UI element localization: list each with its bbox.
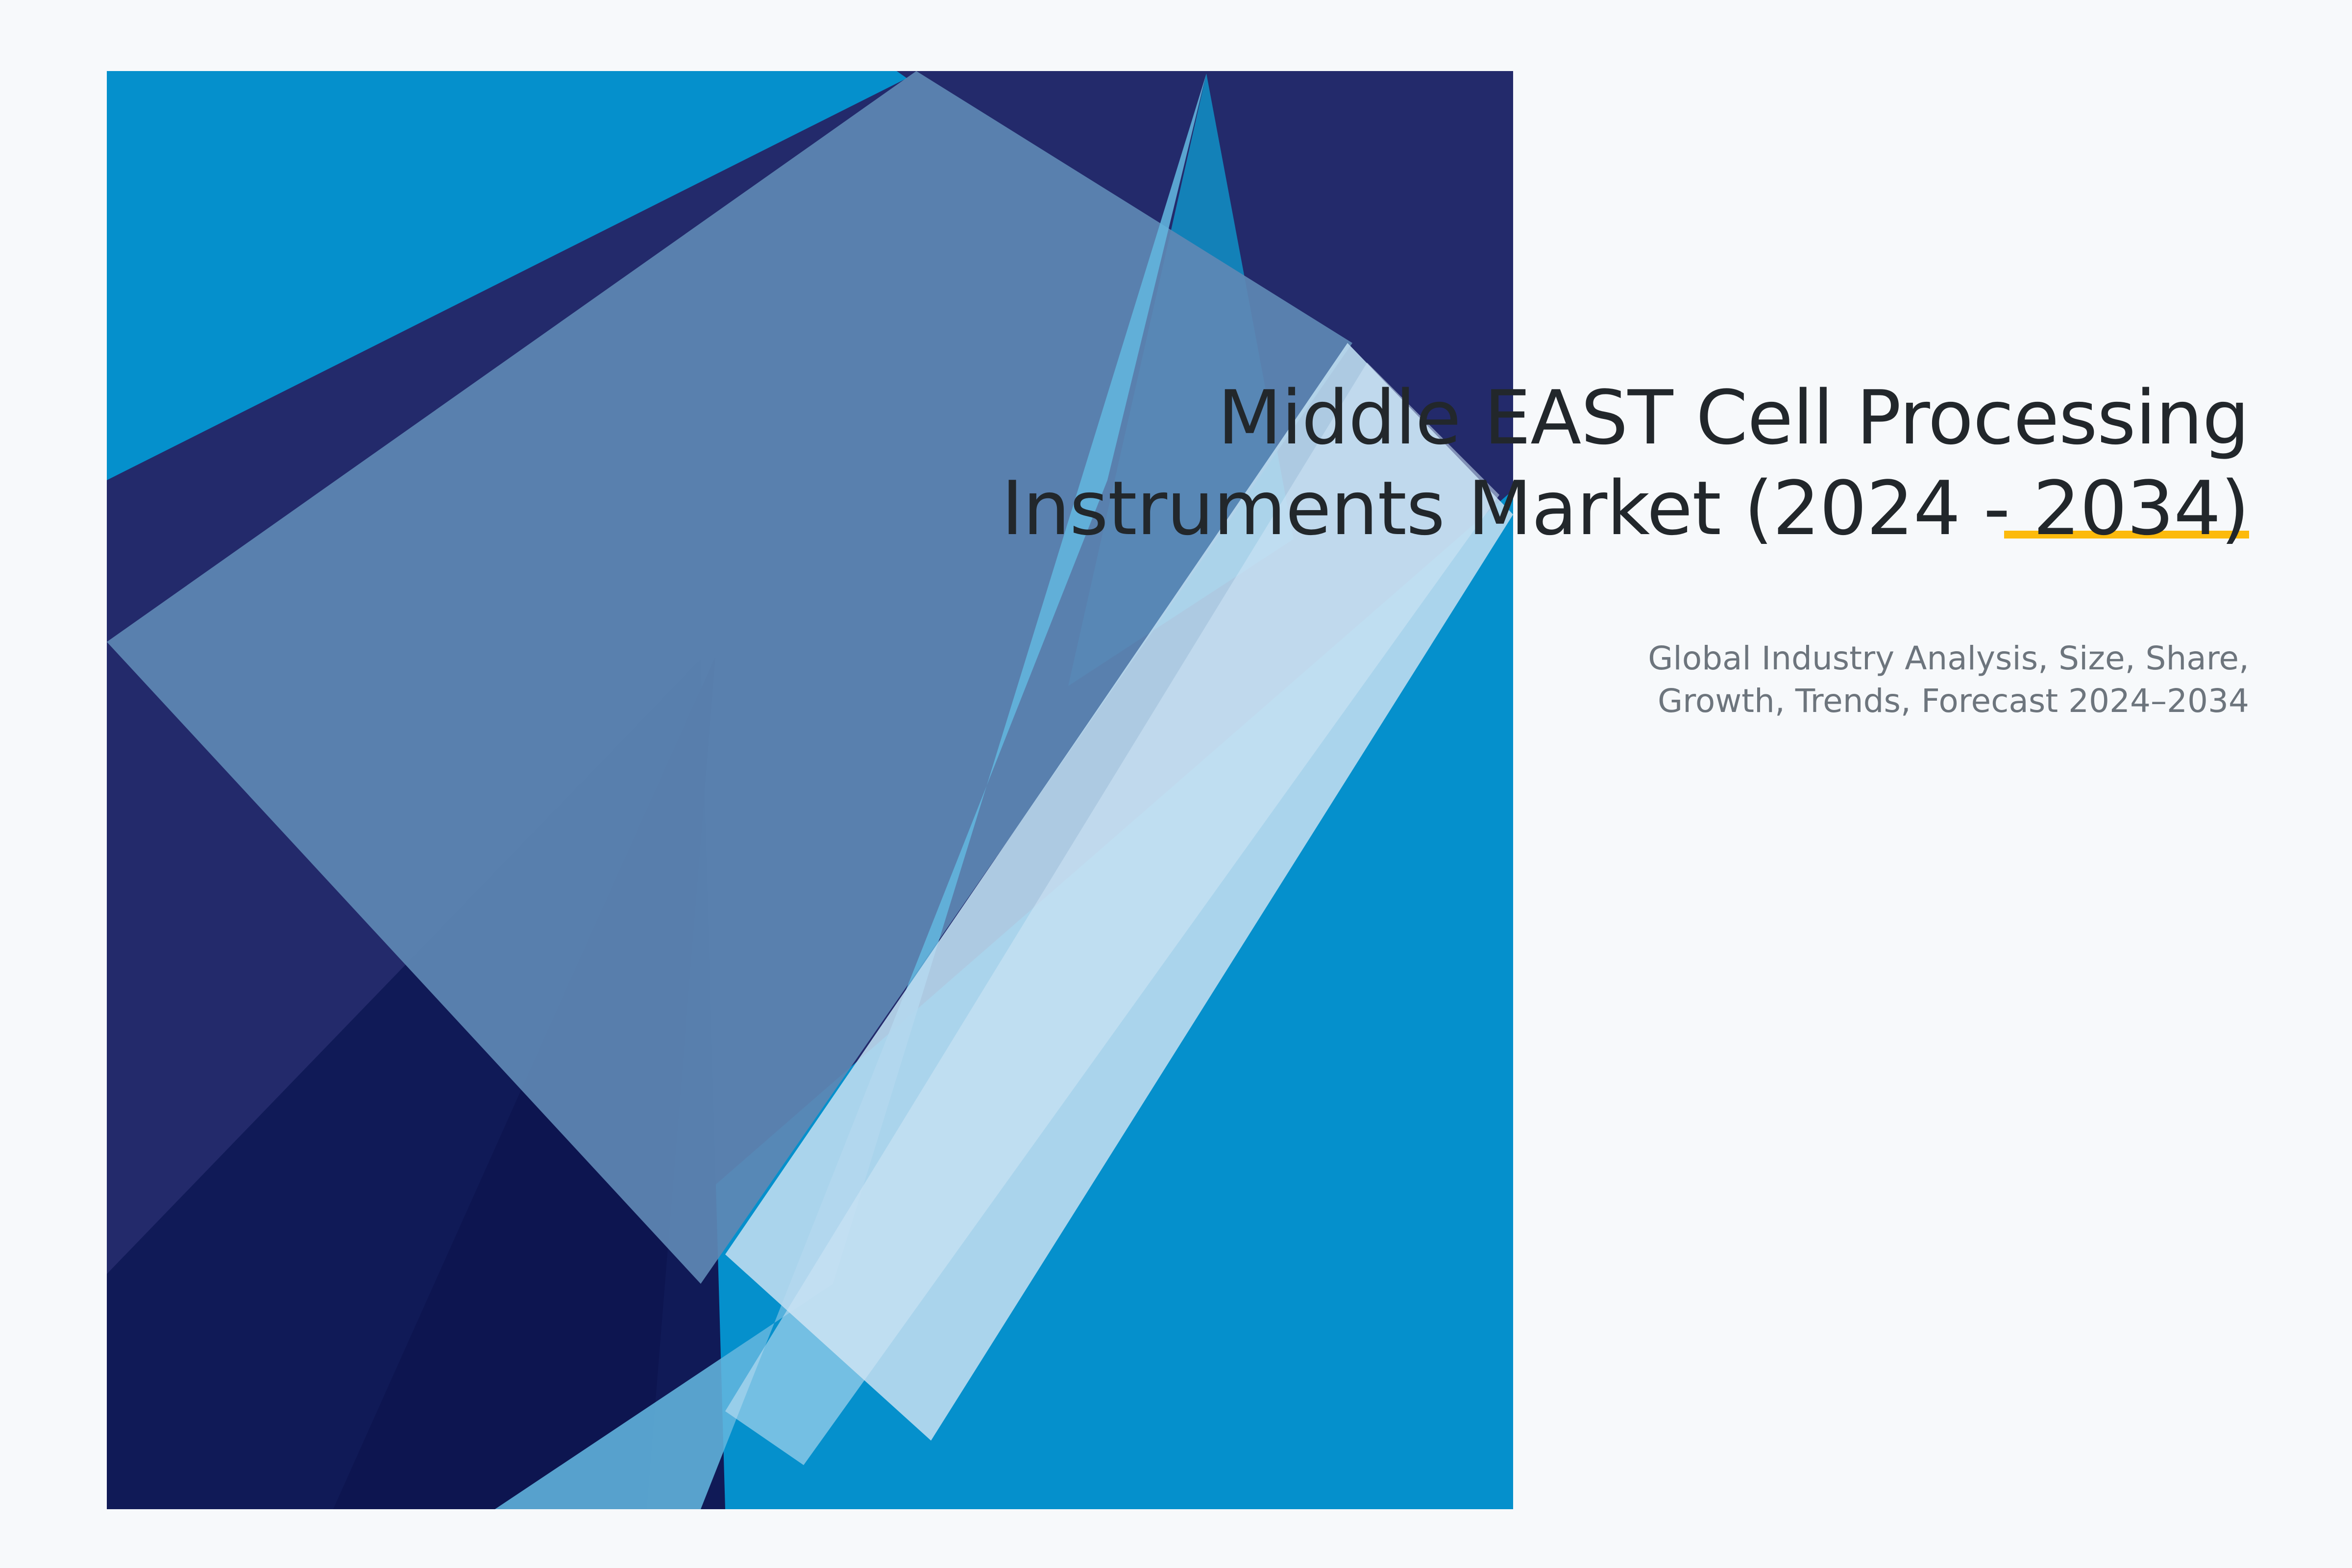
page-subtitle: Global Industry Analysis, Size, Share, G… <box>1416 637 2249 722</box>
cover-title-block: Middle EAST Cell Processing Instruments … <box>975 372 2249 554</box>
abstract-geometric-cover-graphic <box>0 0 2352 1568</box>
cover-page: Middle EAST Cell Processing Instruments … <box>0 0 2352 1568</box>
page-title: Middle EAST Cell Processing Instruments … <box>975 372 2249 554</box>
cover-subtitle-block: Global Industry Analysis, Size, Share, G… <box>1416 637 2249 722</box>
